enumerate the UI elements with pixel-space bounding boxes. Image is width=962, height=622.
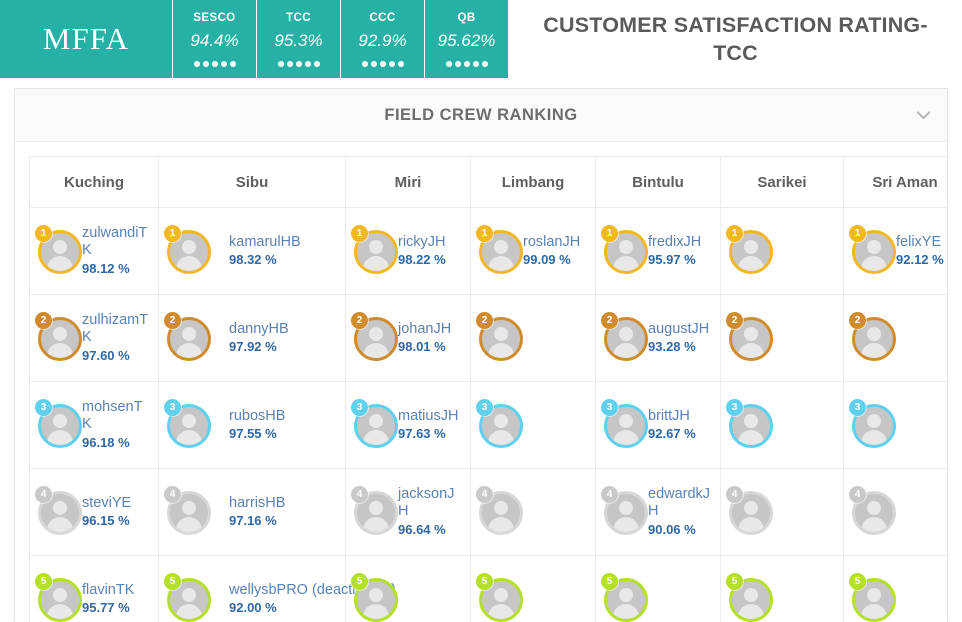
cell-limbang-rank-1[interactable]: 1roslanJH99.09 % (471, 208, 596, 295)
crew-name[interactable]: zulhizamTK (82, 312, 152, 345)
table-head: Kuching Sibu Miri Limbang Bintulu Sarike… (30, 157, 948, 208)
avatar[interactable]: 5 (354, 575, 402, 622)
crew-score: 92.67 % (648, 427, 714, 442)
panel-title: FIELD CREW RANKING (384, 106, 577, 125)
rank-badge: 2 (849, 312, 866, 329)
rank-badge: 2 (351, 312, 368, 329)
crew-entry[interactable]: 3matiusJH97.63 % (352, 382, 464, 468)
crew-score: 97.60 % (82, 349, 152, 364)
crew-entry[interactable]: 5flavinTK95.77 % (36, 556, 152, 622)
crew-entry[interactable]: 2 (727, 295, 837, 381)
crew-entry[interactable]: 5 (602, 556, 714, 622)
column-header-sri-aman[interactable]: Sri Aman (844, 157, 948, 208)
rank-badge: 4 (849, 486, 866, 503)
rank-badge: 2 (35, 312, 52, 329)
crew-info: rubosHB97.55 % (229, 408, 339, 443)
table-row: 4steviYE96.15 %4harrisHB97.16 %4jacksonJ… (30, 469, 948, 556)
crew-score: 95.77 % (82, 601, 152, 616)
cell-sibu-rank-1[interactable]: 1kamarulHB98.32 % (159, 208, 346, 295)
crew-entry[interactable]: 2 (850, 295, 947, 381)
avatar[interactable]: 2 (604, 314, 652, 362)
rank-badge: 2 (476, 312, 493, 329)
cell-bintulu-rank-5[interactable]: 5 (596, 556, 721, 622)
crew-entry[interactable]: 2augustJH93.28 % (602, 295, 714, 381)
rank-badge: 5 (351, 573, 368, 590)
rank-badge: 3 (35, 399, 52, 416)
crew-entry[interactable]: 2 (477, 295, 589, 381)
cell-kuching-rank-4[interactable]: 4steviYE96.15 % (30, 469, 159, 556)
crew-name[interactable]: edwardkJH (648, 486, 714, 519)
crew-score: 99.09 % (523, 253, 589, 268)
crew-name[interactable]: wellysbPRO (deactivated) (229, 582, 339, 599)
avatar[interactable]: 5 (604, 575, 652, 622)
rank-badge: 2 (726, 312, 743, 329)
kpi-tcc-value: 95.3% (274, 31, 322, 51)
kpi-ccc-label: CCC (369, 12, 395, 24)
crew-name[interactable]: kamarulHB (229, 234, 339, 251)
avatar[interactable]: 3 (729, 401, 777, 449)
crew-info: rickyJH98.22 % (398, 234, 464, 269)
crew-info: mohsenTK96.18 % (82, 399, 152, 450)
avatar[interactable]: 2 (852, 314, 900, 362)
top-header-bar: MFFA SESCO 94.4% TCC 95.3% CCC 92.9% QB … (0, 0, 962, 78)
crew-entry[interactable]: 1felixYE92.12 % (850, 208, 947, 294)
crew-entry[interactable]: 1zulwandiTK98.12 % (36, 208, 152, 294)
rank-badge: 4 (35, 486, 52, 503)
kpi-ccc[interactable]: CCC 92.9% (340, 0, 424, 78)
crew-entry[interactable]: 1fredixJH95.97 % (602, 208, 714, 294)
cell-bintulu-rank-3[interactable]: 3brittJH92.67 % (596, 382, 721, 469)
kpi-ccc-value: 92.9% (358, 31, 406, 51)
kpi-tcc-dots (278, 61, 320, 67)
kpi-sesco-dots (194, 61, 236, 67)
rank-badge: 4 (351, 486, 368, 503)
crew-score: 90.06 % (648, 523, 714, 538)
panel-body: Kuching Sibu Miri Limbang Bintulu Sarike… (15, 142, 947, 622)
column-header-bintulu[interactable]: Bintulu (596, 157, 721, 208)
crew-entry[interactable]: 2johanJH98.01 % (352, 295, 464, 381)
crew-name[interactable]: jacksonJH (398, 486, 464, 519)
avatar[interactable]: 3 (852, 401, 900, 449)
rank-badge: 3 (849, 399, 866, 416)
crew-name[interactable]: rickyJH (398, 234, 464, 251)
avatar[interactable]: 5 (852, 575, 900, 622)
kpi-qb-dots (446, 61, 488, 67)
crew-score: 92.12 % (896, 253, 947, 268)
table-header-row: Kuching Sibu Miri Limbang Bintulu Sarike… (30, 157, 948, 208)
crew-entry[interactable]: 4 (727, 469, 837, 555)
table-row: 3mohsenTK96.18 %3rubosHB97.55 %3matiusJH… (30, 382, 948, 469)
crew-score: 97.16 % (229, 514, 339, 529)
crew-score: 96.15 % (82, 514, 152, 529)
cell-limbang-rank-4[interactable]: 4 (471, 469, 596, 556)
crew-info: edwardkJH90.06 % (648, 486, 714, 537)
rank-badge: 4 (601, 486, 618, 503)
kpi-tcc[interactable]: TCC 95.3% (256, 0, 340, 78)
avatar[interactable]: 1 (479, 227, 527, 275)
rank-badge: 3 (164, 399, 181, 416)
crew-entry[interactable]: 4edwardkJH90.06 % (602, 469, 714, 555)
cell-bintulu-rank-2[interactable]: 2augustJH93.28 % (596, 295, 721, 382)
crew-entry[interactable]: 4 (850, 469, 947, 555)
rank-badge: 5 (601, 573, 618, 590)
crew-entry[interactable]: 4jacksonJH96.64 % (352, 469, 464, 555)
rank-badge: 5 (164, 573, 181, 590)
cell-miri-rank-5[interactable]: 5 (346, 556, 471, 622)
crew-info: roslanJH99.09 % (523, 234, 589, 269)
app-root: MFFA SESCO 94.4% TCC 95.3% CCC 92.9% QB … (0, 0, 962, 622)
column-header-sarikei[interactable]: Sarikei (721, 157, 844, 208)
avatar[interactable]: 1 (38, 227, 86, 275)
table-row: 2zulhizamTK97.60 %2dannyHB97.92 %2johanJ… (30, 295, 948, 382)
kpi-ccc-dots (362, 61, 404, 67)
ranking-table: Kuching Sibu Miri Limbang Bintulu Sarike… (29, 156, 947, 622)
kpi-sesco-value: 94.4% (190, 31, 238, 51)
avatar[interactable]: 3 (167, 401, 215, 449)
cell-sri-aman-rank-4[interactable]: 4 (844, 469, 948, 556)
crew-entry[interactable]: 3 (850, 382, 947, 468)
crew-name[interactable]: steviYE (82, 495, 152, 512)
cell-sibu-rank-4[interactable]: 4harrisHB97.16 % (159, 469, 346, 556)
page-title: CUSTOMER SATISFACTION RATING-TCC (523, 11, 948, 68)
crew-score: 95.97 % (648, 253, 714, 268)
crew-info: jacksonJH96.64 % (398, 486, 464, 537)
crew-info: felixYE92.12 % (896, 234, 947, 269)
cell-kuching-rank-1[interactable]: 1zulwandiTK98.12 % (30, 208, 159, 295)
crew-entry[interactable]: 2dannyHB97.92 % (165, 295, 339, 381)
cell-sri-aman-rank-3[interactable]: 3 (844, 382, 948, 469)
rank-badge: 2 (601, 312, 618, 329)
cell-limbang-rank-5[interactable]: 5 (471, 556, 596, 622)
avatar[interactable]: 3 (354, 401, 402, 449)
rank-badge: 5 (849, 573, 866, 590)
crew-entry[interactable]: 4harrisHB97.16 % (165, 469, 339, 555)
crew-score: 98.12 % (82, 262, 152, 277)
crew-name[interactable]: zulwandiTK (82, 225, 152, 258)
rank-badge: 1 (35, 225, 52, 242)
rank-badge: 3 (726, 399, 743, 416)
crew-score: 92.00 % (229, 601, 339, 616)
rank-badge: 2 (164, 312, 181, 329)
crew-score: 93.28 % (648, 340, 714, 355)
crew-name[interactable]: harrisHB (229, 495, 339, 512)
cell-limbang-rank-2[interactable]: 2 (471, 295, 596, 382)
crew-entry[interactable]: 1roslanJH99.09 % (477, 208, 589, 294)
avatar[interactable]: 2 (38, 314, 86, 362)
crew-name[interactable]: roslanJH (523, 234, 589, 251)
rank-badge: 5 (35, 573, 52, 590)
rank-badge: 1 (476, 225, 493, 242)
avatar[interactable]: 4 (604, 488, 652, 536)
crew-name[interactable]: johanJH (398, 321, 464, 338)
kpi-qb-value: 95.62% (438, 31, 496, 51)
avatar[interactable]: 4 (38, 488, 86, 536)
avatar[interactable]: 4 (479, 488, 527, 536)
crew-name[interactable]: felixYE (896, 234, 947, 251)
rank-badge: 5 (726, 573, 743, 590)
crew-name[interactable]: brittJH (648, 408, 714, 425)
rank-badge: 4 (164, 486, 181, 503)
rank-badge: 5 (476, 573, 493, 590)
avatar[interactable]: 5 (729, 575, 777, 622)
table-row: 5flavinTK95.77 %5wellysbPRO (deactivated… (30, 556, 948, 622)
cell-miri-rank-2[interactable]: 2johanJH98.01 % (346, 295, 471, 382)
crew-info: brittJH92.67 % (648, 408, 714, 443)
cell-sarikei-rank-2[interactable]: 2 (721, 295, 844, 382)
avatar[interactable]: 1 (852, 227, 900, 275)
rank-badge: 1 (849, 225, 866, 242)
avatar[interactable]: 3 (38, 401, 86, 449)
crew-score: 96.18 % (82, 436, 152, 451)
crew-info: matiusJH97.63 % (398, 408, 464, 443)
cell-miri-rank-1[interactable]: 1rickyJH98.22 % (346, 208, 471, 295)
avatar[interactable]: 3 (479, 401, 527, 449)
avatar[interactable]: 2 (729, 314, 777, 362)
cell-kuching-rank-2[interactable]: 2zulhizamTK97.60 % (30, 295, 159, 382)
crew-score: 98.01 % (398, 340, 464, 355)
rank-badge: 1 (351, 225, 368, 242)
crew-name[interactable]: rubosHB (229, 408, 339, 425)
cell-sarikei-rank-4[interactable]: 4 (721, 469, 844, 556)
kpi-sesco[interactable]: SESCO 94.4% (172, 0, 256, 78)
rank-badge: 4 (476, 486, 493, 503)
cell-sri-aman-rank-5[interactable]: 5 (844, 556, 948, 622)
avatar[interactable]: 4 (852, 488, 900, 536)
avatar[interactable]: 1 (729, 227, 777, 275)
rank-badge: 3 (601, 399, 618, 416)
crew-info: zulhizamTK97.60 % (82, 312, 152, 363)
crew-name[interactable]: dannyHB (229, 321, 339, 338)
crew-entry[interactable]: 4steviYE96.15 % (36, 469, 152, 555)
crew-score: 97.63 % (398, 427, 464, 442)
crew-entry[interactable]: 4 (477, 469, 589, 555)
crew-info: fredixJH95.97 % (648, 234, 714, 269)
cell-miri-rank-4[interactable]: 4jacksonJH96.64 % (346, 469, 471, 556)
rank-badge: 1 (726, 225, 743, 242)
crew-entry[interactable]: 5 (727, 556, 837, 622)
cell-sibu-rank-3[interactable]: 3rubosHB97.55 % (159, 382, 346, 469)
cell-miri-rank-3[interactable]: 3matiusJH97.63 % (346, 382, 471, 469)
kpi-qb[interactable]: QB 95.62% (424, 0, 508, 78)
cell-bintulu-rank-4[interactable]: 4edwardkJH90.06 % (596, 469, 721, 556)
kpi-tcc-label: TCC (286, 12, 311, 24)
cell-kuching-rank-5[interactable]: 5flavinTK95.77 % (30, 556, 159, 622)
panel-header[interactable]: FIELD CREW RANKING (15, 89, 947, 142)
crew-entry[interactable]: 5 (477, 556, 589, 622)
avatar[interactable]: 3 (604, 401, 652, 449)
avatar[interactable]: 2 (354, 314, 402, 362)
cell-limbang-rank-3[interactable]: 3 (471, 382, 596, 469)
cell-sarikei-rank-1[interactable]: 1 (721, 208, 844, 295)
crew-name[interactable]: augustJH (648, 321, 714, 338)
crew-score: 97.92 % (229, 340, 339, 355)
rank-badge: 1 (601, 225, 618, 242)
crew-info: wellysbPRO (deactivated)92.00 % (229, 582, 339, 617)
crew-info: johanJH98.01 % (398, 321, 464, 356)
kpi-qb-label: QB (457, 12, 475, 24)
rank-badge: 3 (476, 399, 493, 416)
field-crew-ranking-panel: FIELD CREW RANKING Kuching Sibu Miri Lim… (14, 88, 948, 622)
crew-entry[interactable]: 1rickyJH98.22 % (352, 208, 464, 294)
avatar[interactable]: 2 (479, 314, 527, 362)
avatar[interactable]: 2 (167, 314, 215, 362)
crew-info: zulwandiTK98.12 % (82, 225, 152, 276)
avatar[interactable]: 4 (354, 488, 402, 536)
column-header-miri[interactable]: Miri (346, 157, 471, 208)
avatar[interactable]: 1 (167, 227, 215, 275)
brand-logo[interactable]: MFFA (0, 0, 172, 78)
kpi-sesco-label: SESCO (193, 12, 235, 24)
cell-sri-aman-rank-1[interactable]: 1felixYE92.12 % (844, 208, 948, 295)
column-header-kuching[interactable]: Kuching (30, 157, 159, 208)
column-header-limbang[interactable]: Limbang (471, 157, 596, 208)
cell-sarikei-rank-5[interactable]: 5 (721, 556, 844, 622)
crew-info: dannyHB97.92 % (229, 321, 339, 356)
avatar[interactable]: 5 (479, 575, 527, 622)
crew-info: flavinTK95.77 % (82, 582, 152, 617)
crew-entry[interactable]: 5 (352, 556, 464, 622)
crew-info: steviYE96.15 % (82, 495, 152, 530)
table-body: 1zulwandiTK98.12 %1kamarulHB98.32 %1rick… (30, 208, 948, 622)
page-title-container: CUSTOMER SATISFACTION RATING-TCC (508, 0, 962, 78)
avatar[interactable]: 5 (38, 575, 86, 622)
crew-name[interactable]: mohsenTK (82, 399, 152, 432)
crew-entry[interactable]: 3 (477, 382, 589, 468)
crew-entry[interactable]: 3rubosHB97.55 % (165, 382, 339, 468)
column-header-sibu[interactable]: Sibu (159, 157, 346, 208)
crew-info: kamarulHB98.32 % (229, 234, 339, 269)
cell-sarikei-rank-3[interactable]: 3 (721, 382, 844, 469)
crew-entry[interactable]: 5wellysbPRO (deactivated)92.00 % (165, 556, 339, 622)
crew-info: harrisHB97.16 % (229, 495, 339, 530)
avatar[interactable]: 1 (604, 227, 652, 275)
avatar[interactable]: 4 (729, 488, 777, 536)
crew-name[interactable]: matiusJH (398, 408, 464, 425)
crew-entry[interactable]: 2zulhizamTK97.60 % (36, 295, 152, 381)
avatar[interactable]: 1 (354, 227, 402, 275)
crew-entry[interactable]: 1kamarulHB98.32 % (165, 208, 339, 294)
crew-entry[interactable]: 3mohsenTK96.18 % (36, 382, 152, 468)
crew-info: augustJH93.28 % (648, 321, 714, 356)
crew-score: 96.64 % (398, 523, 464, 538)
crew-entry[interactable]: 3 (727, 382, 837, 468)
table-row: 1zulwandiTK98.12 %1kamarulHB98.32 %1rick… (30, 208, 948, 295)
crew-entry[interactable]: 3brittJH92.67 % (602, 382, 714, 468)
rank-badge: 3 (351, 399, 368, 416)
cell-sibu-rank-5[interactable]: 5wellysbPRO (deactivated)92.00 % (159, 556, 346, 622)
crew-score: 98.32 % (229, 253, 339, 268)
cell-kuching-rank-3[interactable]: 3mohsenTK96.18 % (30, 382, 159, 469)
cell-sibu-rank-2[interactable]: 2dannyHB97.92 % (159, 295, 346, 382)
crew-name[interactable]: flavinTK (82, 582, 152, 599)
chevron-down-icon[interactable] (915, 107, 931, 123)
crew-entry[interactable]: 1 (727, 208, 837, 294)
crew-score: 97.55 % (229, 427, 339, 442)
rank-badge: 4 (726, 486, 743, 503)
crew-entry[interactable]: 5 (850, 556, 947, 622)
cell-bintulu-rank-1[interactable]: 1fredixJH95.97 % (596, 208, 721, 295)
avatar[interactable]: 5 (167, 575, 215, 622)
crew-name[interactable]: fredixJH (648, 234, 714, 251)
crew-score: 98.22 % (398, 253, 464, 268)
avatar[interactable]: 4 (167, 488, 215, 536)
rank-badge: 1 (164, 225, 181, 242)
cell-sri-aman-rank-2[interactable]: 2 (844, 295, 948, 382)
